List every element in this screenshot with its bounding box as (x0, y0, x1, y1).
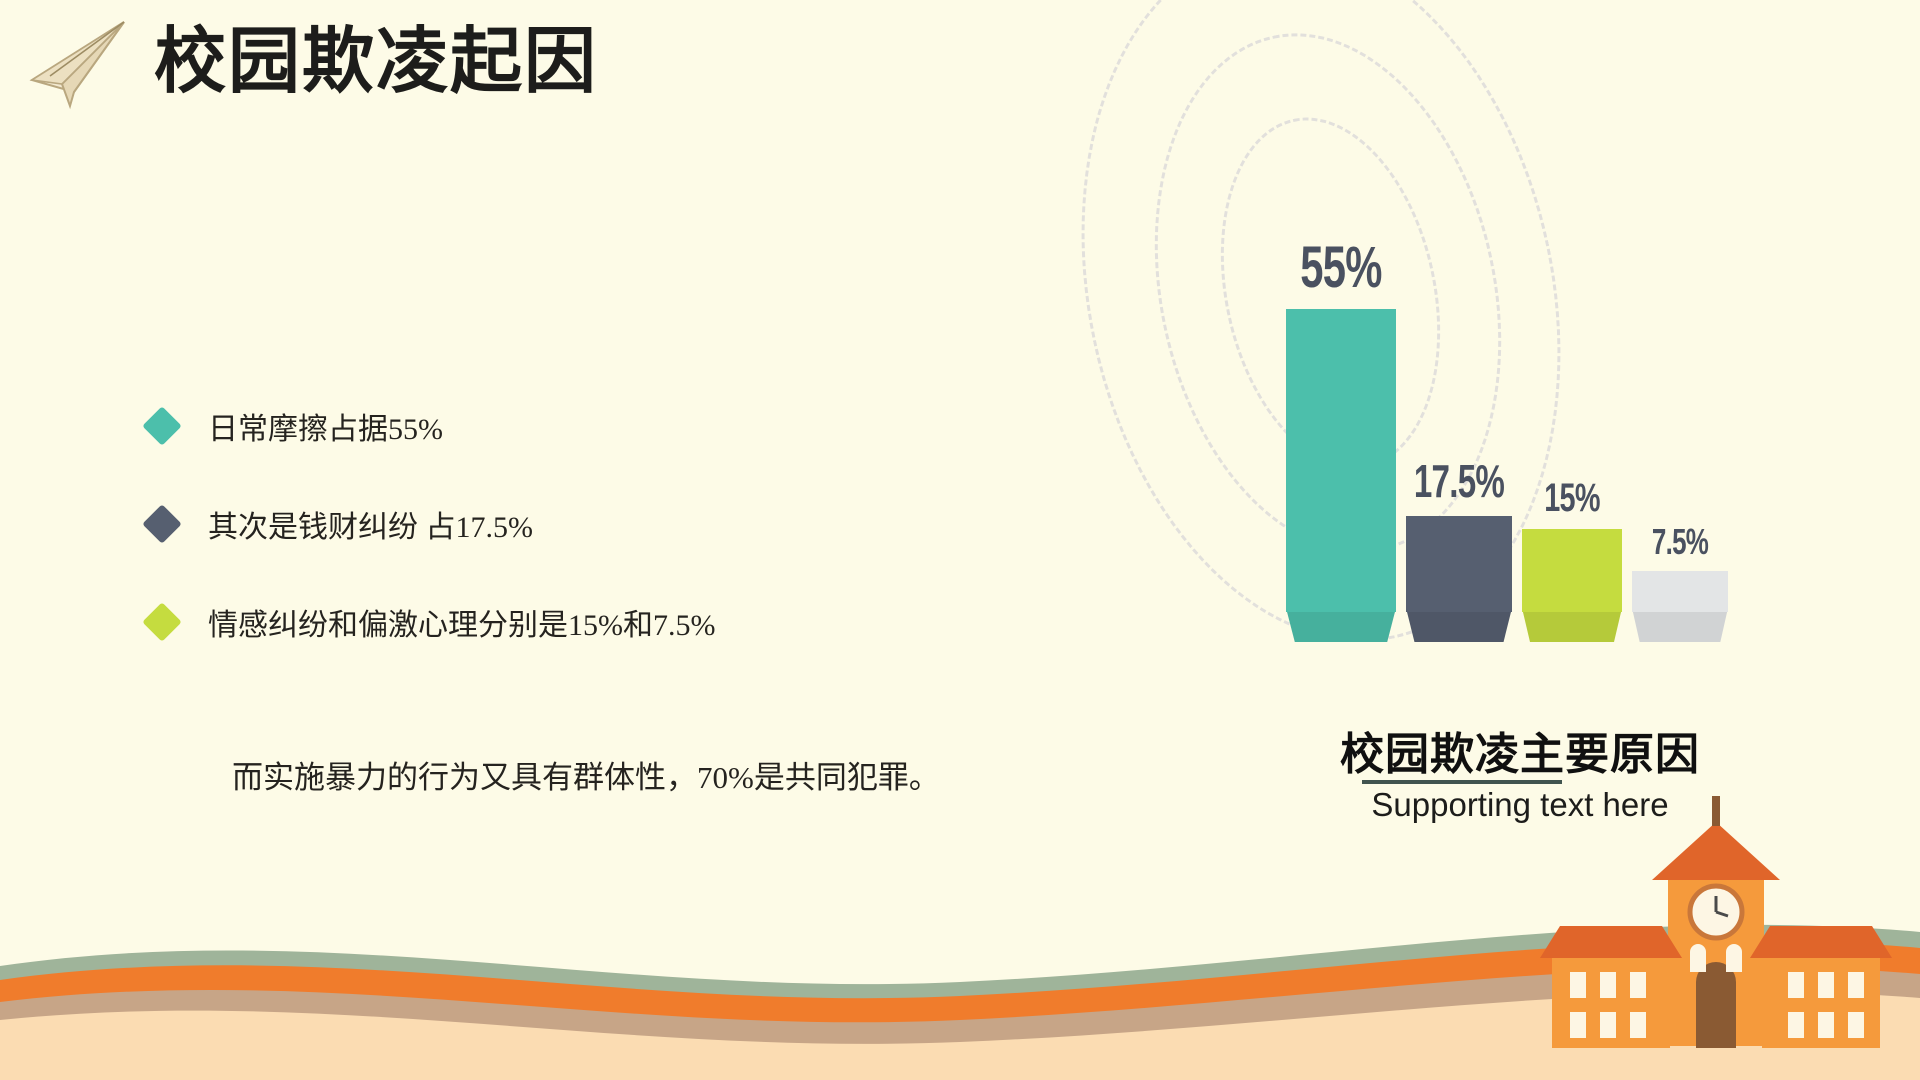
school-window (1600, 972, 1616, 998)
chart-bar-value-label: 17.5% (1414, 454, 1504, 508)
list-item: 情感纠纷和偏激心理分别是15%和7.5% (148, 600, 715, 644)
page-header: 校园欺凌起因 (28, 14, 598, 110)
chart-bar: 7.5% (1632, 571, 1728, 612)
chart-bar-base (1286, 608, 1396, 642)
school-left-roof (1540, 926, 1682, 958)
chart-bar: 17.5% (1406, 516, 1512, 612)
diamond-bullet-icon (142, 406, 182, 446)
chart-bar-body (1632, 571, 1728, 612)
list-item: 其次是钱财纠纷 占17.5% (148, 502, 715, 546)
chart-bar-value-label: 7.5% (1652, 521, 1708, 563)
chart-bars: 55%17.5%15%7.5% (1280, 282, 1800, 612)
chart-bar-value-label: 55% (1300, 234, 1381, 301)
diamond-bullet-icon (142, 602, 182, 642)
body-paragraph: 而实施暴力的行为又具有群体性，70%是共同犯罪。 (232, 752, 940, 797)
school-window (1690, 944, 1706, 972)
page-title: 校园欺凌起因 (154, 26, 598, 98)
school-window (1570, 972, 1586, 998)
school-flagpole (1712, 796, 1720, 826)
school-window (1848, 972, 1864, 998)
chart-bar-body (1406, 516, 1512, 612)
list-item-label: 情感纠纷和偏激心理分别是15%和7.5% (208, 600, 715, 644)
chart-bar: 15% (1522, 529, 1622, 612)
chart-bar: 55% (1286, 309, 1396, 612)
list-item-label: 其次是钱财纠纷 占17.5% (208, 502, 533, 546)
bar-chart: 55%17.5%15%7.5% (1280, 240, 1800, 670)
school-window (1630, 1012, 1646, 1038)
chart-bar-value-label: 15% (1544, 476, 1599, 521)
list-item-label: 日常摩擦占据55% (208, 404, 443, 448)
chart-bar-base (1632, 608, 1728, 642)
school-window (1788, 1012, 1804, 1038)
school-window (1630, 972, 1646, 998)
chart-bar-base (1522, 608, 1622, 642)
chart-bar-body (1522, 529, 1622, 612)
school-building-illustration (1500, 760, 1920, 1080)
list-item: 日常摩擦占据55% (148, 404, 715, 448)
bullet-list: 日常摩擦占据55% 其次是钱财纠纷 占17.5% 情感纠纷和偏激心理分别是15%… (148, 404, 715, 698)
chart-bar-base (1406, 608, 1512, 642)
school-window (1726, 944, 1742, 972)
school-window (1570, 1012, 1586, 1038)
school-door (1696, 962, 1736, 1048)
chart-bar-body (1286, 309, 1396, 612)
school-window (1600, 1012, 1616, 1038)
school-right-roof (1750, 926, 1892, 958)
school-window (1818, 1012, 1834, 1038)
school-window (1848, 1012, 1864, 1038)
diamond-bullet-icon (142, 504, 182, 544)
school-window (1788, 972, 1804, 998)
school-window (1818, 972, 1834, 998)
school-tower-roof (1652, 822, 1780, 880)
paper-plane-icon (28, 14, 134, 110)
